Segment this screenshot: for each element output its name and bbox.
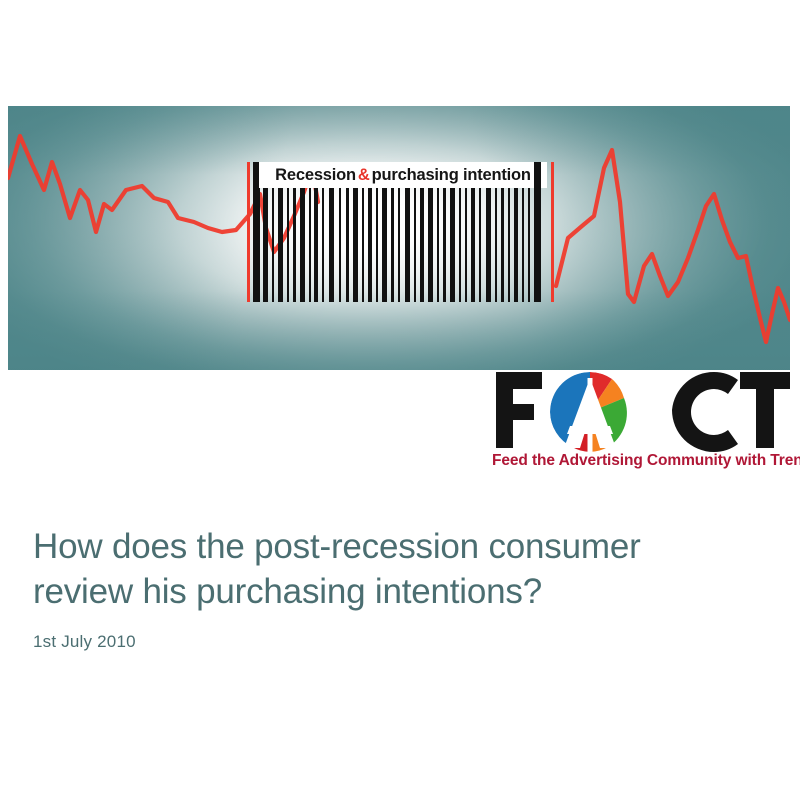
- logo-letter-a-disc: [550, 372, 627, 452]
- barcode-caption-ampersand: &: [356, 166, 372, 185]
- page-title: How does the post-recession consumer rev…: [33, 524, 763, 614]
- logo-letter-t: [740, 372, 790, 448]
- presentation-date: 1st July 2010: [33, 632, 763, 652]
- page-title-line-1: How does the post-recession consumer: [33, 527, 641, 566]
- logo-letter-c: [672, 372, 738, 452]
- barcode-red-guide-right: [551, 162, 554, 302]
- fact-logo: Feed the Advertising Community with Tren…: [492, 368, 792, 480]
- hero-banner: Recession & purchasing intention: [8, 106, 790, 370]
- fact-wordmark-icon: [492, 368, 792, 452]
- logo-letter-f: [496, 372, 542, 448]
- barcode-edge-bar-right: [534, 162, 541, 302]
- barcode-graphic: Recession & purchasing intention: [245, 162, 555, 302]
- barcode-bars: [259, 188, 547, 302]
- barcode-caption-suffix: purchasing intention: [372, 166, 531, 185]
- barcode-red-guide-left: [247, 162, 250, 302]
- barcode-caption-prefix: Recession: [275, 166, 356, 185]
- title-block: How does the post-recession consumer rev…: [33, 524, 763, 652]
- fact-tagline: Feed the Advertising Community with Tren…: [492, 452, 792, 470]
- barcode-caption: Recession & purchasing intention: [259, 162, 547, 188]
- page-title-line-2: review his purchasing intentions?: [33, 572, 542, 611]
